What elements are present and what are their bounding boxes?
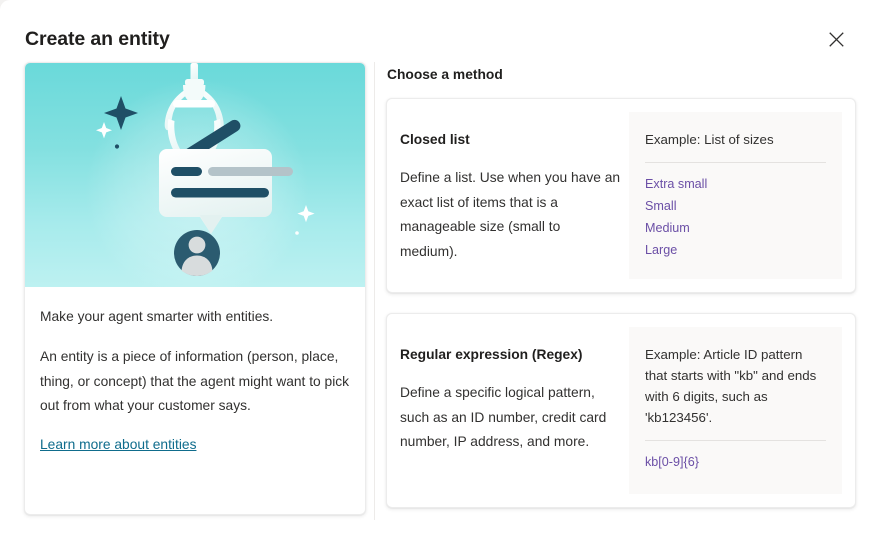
dialog-body: Make your agent smarter with entities. A…: [0, 62, 873, 539]
method-description: Define a specific logical pattern, such …: [400, 381, 629, 455]
example-item: Small: [645, 195, 826, 217]
example-box-closed-list: Example: List of sizes Extra small Small…: [629, 112, 842, 279]
method-chooser: Choose a method Closed list Define a lis…: [386, 62, 856, 522]
close-icon: [829, 32, 844, 47]
example-item: Large: [645, 239, 826, 261]
method-card-regex[interactable]: Regular expression (Regex) Define a spec…: [386, 313, 856, 508]
choose-method-heading: Choose a method: [387, 67, 856, 82]
method-title: Regular expression (Regex): [400, 347, 629, 362]
method-description: Define a list. Use when you have an exac…: [400, 166, 629, 264]
entity-info-lead: Make your agent smarter with entities.: [40, 307, 350, 327]
page-title: Create an entity: [25, 28, 170, 51]
method-text-closed-list: Closed list Define a list. Use when you …: [387, 99, 629, 292]
learn-more-link[interactable]: Learn more about entities: [40, 435, 196, 455]
entity-info-text: Make your agent smarter with entities. A…: [25, 287, 365, 455]
example-title: Example: List of sizes: [645, 129, 826, 150]
illustration-svg: [25, 63, 365, 287]
example-item: kb[0-9]{6}: [645, 451, 826, 473]
panel-divider: [374, 62, 375, 520]
entity-illustration: [25, 63, 365, 287]
close-button[interactable]: [819, 22, 853, 56]
example-item: Medium: [645, 217, 826, 239]
dialog-header: Create an entity: [0, 0, 873, 62]
create-entity-dialog: Create an entity: [0, 0, 873, 539]
method-text-regex: Regular expression (Regex) Define a spec…: [387, 314, 629, 507]
example-divider: [645, 440, 826, 441]
example-divider: [645, 162, 826, 163]
entity-info-paragraph: An entity is a piece of information (per…: [40, 345, 350, 419]
example-item: Extra small: [645, 173, 826, 195]
method-card-closed-list[interactable]: Closed list Define a list. Use when you …: [386, 98, 856, 293]
example-box-regex: Example: Article ID pattern that starts …: [629, 327, 842, 494]
example-title: Example: Article ID pattern that starts …: [645, 344, 826, 428]
method-title: Closed list: [400, 132, 629, 147]
entity-info-card: Make your agent smarter with entities. A…: [24, 62, 366, 515]
